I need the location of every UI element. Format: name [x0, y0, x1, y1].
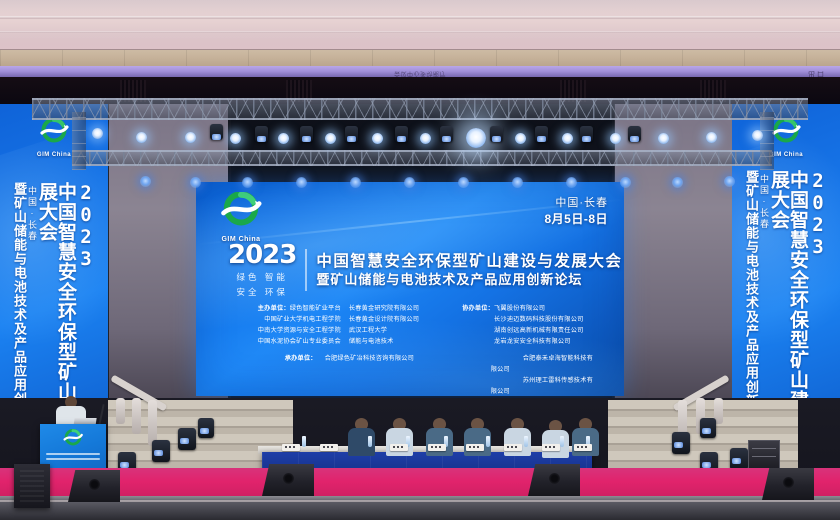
floor-moving-head-light [152, 440, 170, 462]
coorg-4: 龙岩龙安安全科技有限公司 [494, 338, 571, 345]
table-nameplate [320, 444, 338, 451]
table-nameplate [542, 444, 560, 451]
stage-lamp [515, 133, 526, 144]
moving-head-light [490, 126, 503, 142]
coorg-6: 苏州理工雷科传感技术有限公司 [491, 377, 593, 395]
truss-leg-right [760, 112, 774, 170]
truss-rail [32, 98, 808, 100]
host-col1-cell: 中南大学资源与安全工程学院 [226, 326, 341, 337]
pa-speaker-stack [14, 464, 50, 508]
event-title-main: 中国智慧安全环保型矿山建设与发展大会 [316, 252, 622, 271]
host-org2-1: 长春黄金研究院有限公司 [349, 305, 419, 312]
undertaker-value: 合肥绿色矿冶科技咨询有限公司 [325, 355, 414, 362]
lighting-truss-main [32, 98, 808, 120]
event-dates: 8月5日-8日 [544, 211, 608, 227]
event-title-sub: 暨矿山储能与电池技术及产品应用创新论坛 [316, 272, 622, 289]
stage-lamp-lower [140, 176, 151, 187]
stage-monitor-wedge [262, 464, 314, 496]
stage-monitor-wedge [528, 464, 580, 496]
undertaker-label-cell: 承办单位： [226, 354, 317, 376]
event-city: 中国·长春 [544, 196, 608, 211]
event-location-block: 中国·长春 8月5日-8日 [544, 196, 608, 227]
coorg-cell: 协办单位：苏州理工雷科传感技术有限公司 [491, 376, 598, 396]
stage-lamp-lower [190, 177, 201, 188]
floor-moving-head-light [198, 418, 214, 438]
gim-logo-podium [56, 429, 90, 453]
event-year: 2023 [228, 242, 296, 268]
stage-lamp [562, 133, 573, 144]
stage-lamp [185, 132, 196, 143]
stage-lamp-lower [672, 177, 683, 188]
undertaker-value-cell: 合肥绿色矿冶科技咨询有限公司 [317, 354, 491, 376]
coorg-1: 飞翼股份有限公司 [494, 305, 545, 312]
baluster-post [116, 398, 125, 424]
podium-caption-line2 [46, 458, 100, 460]
host-col2-cell: 长春黄金设计院有限公司 [341, 315, 454, 326]
table-nameplate [574, 444, 592, 451]
wall-panel-right [614, 104, 734, 404]
organizer-row: 中国矿业大学机电工程学院 长春黄金设计院有限公司 协办单位：长沙迪迈数码科技股份… [226, 315, 598, 326]
floor-moving-head-light [672, 432, 690, 454]
stage-lamp-lower [512, 177, 523, 188]
balustrade-left [112, 372, 172, 450]
floor-moving-head-light [730, 448, 748, 470]
water-bottle [486, 436, 490, 447]
gim-logo-icon [34, 118, 74, 146]
stage-photo: 会议中心多功能厅 出口 GIM China 2023 中国智慧安全环保型矿山建设… [0, 0, 840, 520]
panelist-body [426, 428, 453, 456]
host-org2-3: 武汉工程大学 [349, 327, 387, 334]
stage-lamp [752, 130, 763, 141]
moving-head-light [395, 126, 408, 142]
host-label: 主办单位： [258, 305, 290, 312]
organizer-row: 协办单位：苏州理工雷科传感技术有限公司 [226, 376, 598, 396]
stage-lamp [372, 133, 383, 144]
table-nameplate [390, 444, 408, 451]
organizer-row: 承办单位： 合肥绿色矿冶科技咨询有限公司 协办单位：合肥泰禾卓海智能科技有限公司 [226, 354, 598, 376]
moving-head-light [210, 124, 223, 140]
stage-lamp [325, 133, 336, 144]
stage-monitor-wedge [68, 470, 120, 502]
moving-head-light [300, 126, 313, 142]
coorg-cell: 协办单位：湖南创远高新机械有限责任公司 [454, 326, 598, 337]
truss-leg-left [72, 112, 86, 170]
event-year-block: 2023 绿色 智能 安全 环保 [228, 242, 296, 299]
moving-head-light [580, 126, 593, 142]
host-org-2: 中国矿业大学机电工程学院 [264, 316, 341, 323]
stage-lamp [278, 133, 289, 144]
event-titles: 中国智慧安全环保型矿山建设与发展大会 暨矿山储能与电池技术及产品应用创新论坛 [316, 252, 622, 288]
spacer-cell [317, 376, 491, 396]
organizer-row: 中南大学资源与安全工程学院 武汉工程大学 协办单位：湖南创远高新机械有限责任公司 [226, 326, 598, 337]
stage-lamp-lower [296, 177, 307, 188]
truss-rail [72, 164, 772, 166]
stage-lamp-lower [242, 177, 253, 188]
truss-crossbracing [32, 98, 808, 120]
host-col1-cell: 中国矿业大学机电工程学院 [226, 315, 341, 326]
event-slogan-line1: 绿色 智能 [228, 271, 296, 283]
stage-lamp-lower [458, 177, 469, 188]
gim-logo-icon [60, 429, 86, 448]
podium-caption-line1 [46, 453, 100, 455]
ceiling-ridge [0, 16, 840, 19]
coorganizer-label: 协办单位： [462, 305, 494, 312]
title-divider [305, 249, 307, 291]
gim-logo-screen: GIM China [208, 192, 274, 243]
stage-lamp [658, 133, 669, 144]
host-label-cell: 主办单位：绿色智能矿业平台 [226, 304, 341, 315]
stage-front-highlight [0, 500, 840, 502]
water-bottle [368, 436, 372, 447]
table-nameplate [428, 444, 446, 451]
moving-head-light [440, 126, 453, 142]
host-col2-cell: 长春黄金研究院有限公司 [341, 304, 454, 315]
ceiling-ridge-secondary [0, 31, 840, 33]
coorg-cell: 协办单位：合肥泰禾卓海智能科技有限公司 [491, 354, 598, 376]
host-org2-2: 长春黄金设计院有限公司 [349, 316, 419, 323]
stage-lamp-lower [350, 177, 361, 188]
event-title-row: 2023 绿色 智能 安全 环保 中国智慧安全环保型矿山建设与发展大会 暨矿山储… [228, 242, 622, 299]
equipment-road-case [748, 440, 780, 470]
moving-head-light [535, 126, 548, 142]
coorg-3: 湖南创远高新机械有限责任公司 [494, 327, 583, 334]
host-org-3: 中南大学资源与安全工程学院 [258, 327, 341, 334]
host-org-4: 中国水泥协会矿山专业委员会 [258, 338, 341, 345]
spacer-cell [226, 376, 317, 396]
host-col2-cell: 储能与电池技术 [341, 337, 454, 348]
stage-lamp-lower [404, 177, 415, 188]
stage-monitor-wedge [762, 468, 814, 500]
stage-lamp [230, 133, 241, 144]
coorg-cell: 协办单位：飞翼股份有限公司 [454, 304, 598, 315]
podium-caption-lines [46, 453, 100, 462]
gim-logo-icon [214, 192, 268, 230]
coorg-cell: 协办单位：长沙迪迈数码科技股份有限公司 [454, 315, 598, 326]
coorg-5: 合肥泰禾卓海智能科技有限公司 [491, 355, 593, 373]
organizer-row: 中国水泥协会矿山专业委员会 储能与电池技术 协办单位：龙岩龙安安全科技有限公司 [226, 337, 598, 348]
truss-rail [32, 118, 808, 120]
stone-fascia-band [0, 50, 840, 67]
event-slogan-line2: 安全 环保 [228, 286, 296, 298]
floor-moving-head-light [700, 418, 716, 438]
table-nameplate [466, 444, 484, 451]
lighting-truss-lower [72, 150, 772, 166]
water-bottle [302, 436, 306, 447]
water-bottle [524, 436, 528, 447]
main-led-screen: GIM China 中国·长春 8月5日-8日 2023 绿色 智能 安全 环保… [196, 182, 624, 396]
table-nameplate [504, 444, 522, 451]
host-org2-4: 储能与电池技术 [349, 338, 394, 345]
stage-lamp [420, 133, 431, 144]
host-col1-cell: 中国水泥协会矿山专业委员会 [226, 337, 341, 348]
stage-lamp-lower [724, 176, 735, 187]
moving-head-light [255, 126, 268, 142]
auditorium-ceiling [0, 0, 840, 52]
host-col2-cell: 武汉工程大学 [341, 326, 454, 337]
floor-moving-head-light [178, 428, 196, 450]
undertaker-label: 承办单位： [285, 355, 317, 362]
organizer-row: 主办单位：绿色智能矿业平台 长春黄金研究院有限公司 协办单位：飞翼股份有限公司 [226, 304, 598, 315]
truss-rail [72, 150, 772, 152]
table-nameplate [282, 444, 300, 451]
stage-lamp-lower [620, 177, 631, 188]
coorg-cell: 协办单位：龙岩龙安安全科技有限公司 [454, 337, 598, 348]
stage-lamp [136, 132, 147, 143]
moving-head-light [628, 126, 641, 142]
stage-lamp [610, 133, 621, 144]
stage-lamp-center-blinder [466, 128, 486, 148]
host-org-1: 绿色智能矿业平台 [290, 305, 341, 312]
coorg-2: 长沙迪迈数码科技股份有限公司 [494, 316, 583, 323]
moving-head-light [345, 126, 358, 142]
organizer-credits: 主办单位：绿色智能矿业平台 长春黄金研究院有限公司 协办单位：飞翼股份有限公司 … [226, 304, 598, 396]
baluster-post [132, 398, 141, 434]
water-bottle [560, 436, 564, 447]
stage-lamp [92, 128, 103, 139]
stage-lamp-lower [566, 177, 577, 188]
stage-lamp [706, 132, 717, 143]
